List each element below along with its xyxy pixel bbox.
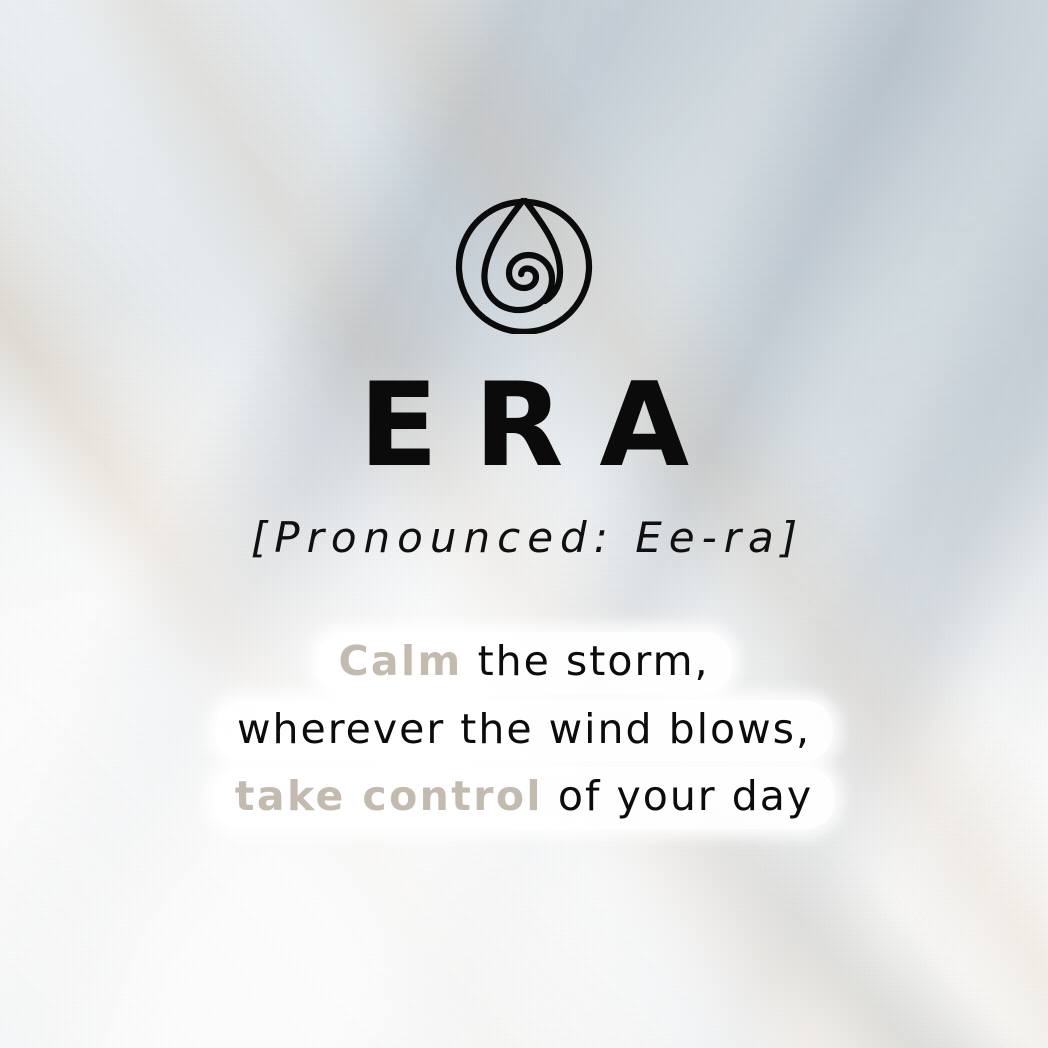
tagline-accent-1: Calm <box>338 637 462 685</box>
water-drop-spiral-icon <box>453 196 595 334</box>
brand-card-canvas: ERA [Pronounced: Ee-ra] Calm the storm, … <box>0 0 1048 1048</box>
tagline-plain-1: the storm, <box>463 637 710 685</box>
tagline-line-2: wherever the wind blows, <box>215 700 833 762</box>
brand-content: ERA [Pronounced: Ee-ra] Calm the storm, … <box>0 0 1048 1048</box>
tagline-line-3: take control of your day <box>213 767 835 829</box>
pronunciation-text: [Pronounced: Ee-ra] <box>0 512 1048 565</box>
page-title: ERA <box>0 368 1048 484</box>
tagline-block: Calm the storm, wherever the wind blows,… <box>0 632 1048 829</box>
tagline-accent-3: take control <box>235 772 543 820</box>
tagline-line-1: Calm the storm, <box>316 632 731 694</box>
tagline-plain-2: wherever the wind blows, <box>237 705 811 753</box>
tagline-plain-3: of your day <box>543 772 813 820</box>
